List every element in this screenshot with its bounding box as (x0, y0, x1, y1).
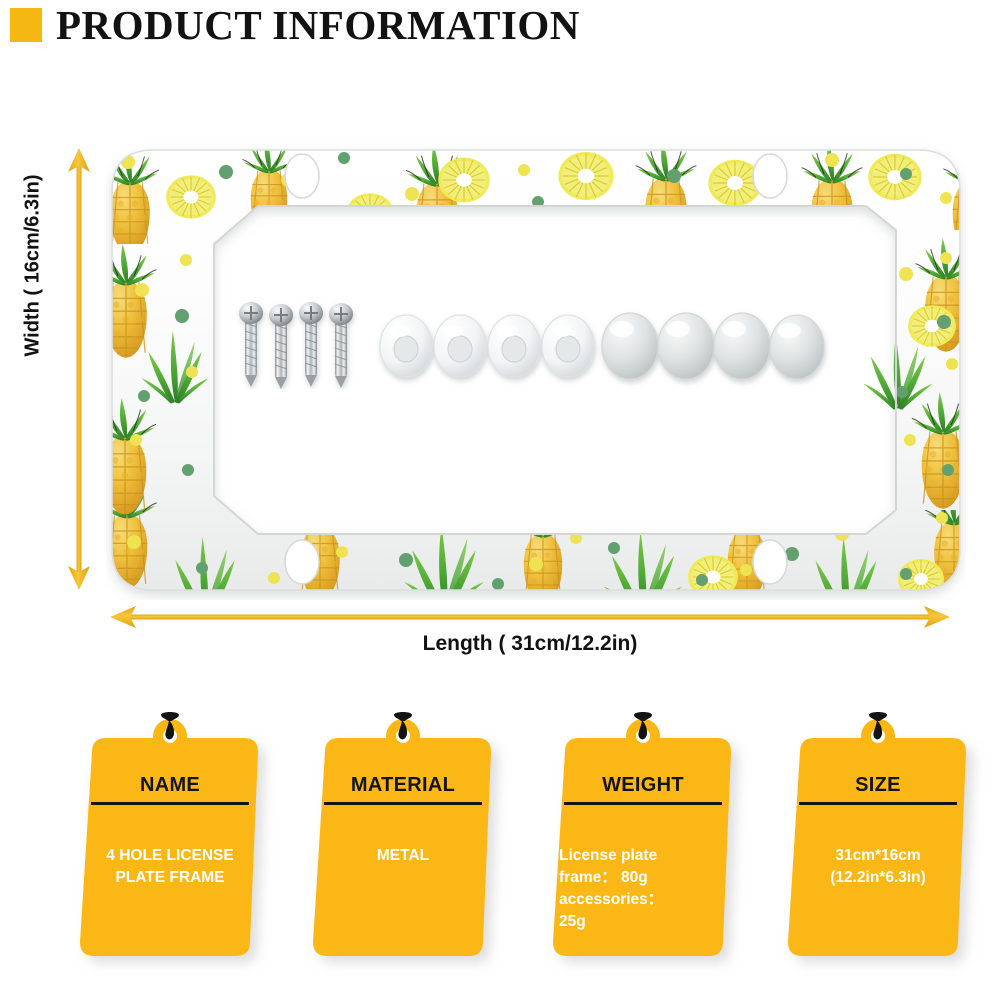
card-title: MATERIAL (319, 774, 487, 797)
card-divider (324, 802, 482, 805)
card-value: 4 HOLE LICENSE PLATE FRAME (86, 845, 254, 889)
card-title: WEIGHT (559, 774, 727, 797)
length-dimension-arrow (110, 604, 950, 630)
card-value: METAL (319, 845, 487, 867)
spec-card-name[interactable]: NAME 4 HOLE LICENSE PLATE FRAME (72, 736, 268, 958)
card-value: 31cm*16cm (12.2in*6.3in) (794, 845, 962, 889)
width-dimension-arrow (62, 148, 96, 590)
card-value: License plate frame： 80g accessories： 25… (559, 845, 727, 933)
length-dimension-label: Length ( 31cm/12.2in) (110, 632, 950, 656)
card-title: SIZE (794, 774, 962, 797)
page-header: PRODUCT INFORMATION (0, 0, 1000, 50)
card-divider (91, 802, 249, 805)
spec-card-weight[interactable]: WEIGHT License plate frame： 80g accessor… (545, 736, 741, 958)
product-diagram: Width ( 16cm/6.3in) (0, 56, 1000, 676)
page-title: PRODUCT INFORMATION (56, 5, 580, 46)
spec-card-material[interactable]: MATERIAL METAL (305, 736, 501, 958)
yellow-square-icon (10, 8, 42, 42)
spec-card-size[interactable]: SIZE 31cm*16cm (12.2in*6.3in) (780, 736, 976, 958)
spec-cards: NAME 4 HOLE LICENSE PLATE FRAME (0, 700, 1000, 1000)
card-title: NAME (86, 774, 254, 797)
width-dimension-label: Width ( 16cm/6.3in) (22, 66, 45, 466)
card-divider (799, 802, 957, 805)
accessories-row (232, 299, 832, 389)
card-divider (564, 802, 722, 805)
